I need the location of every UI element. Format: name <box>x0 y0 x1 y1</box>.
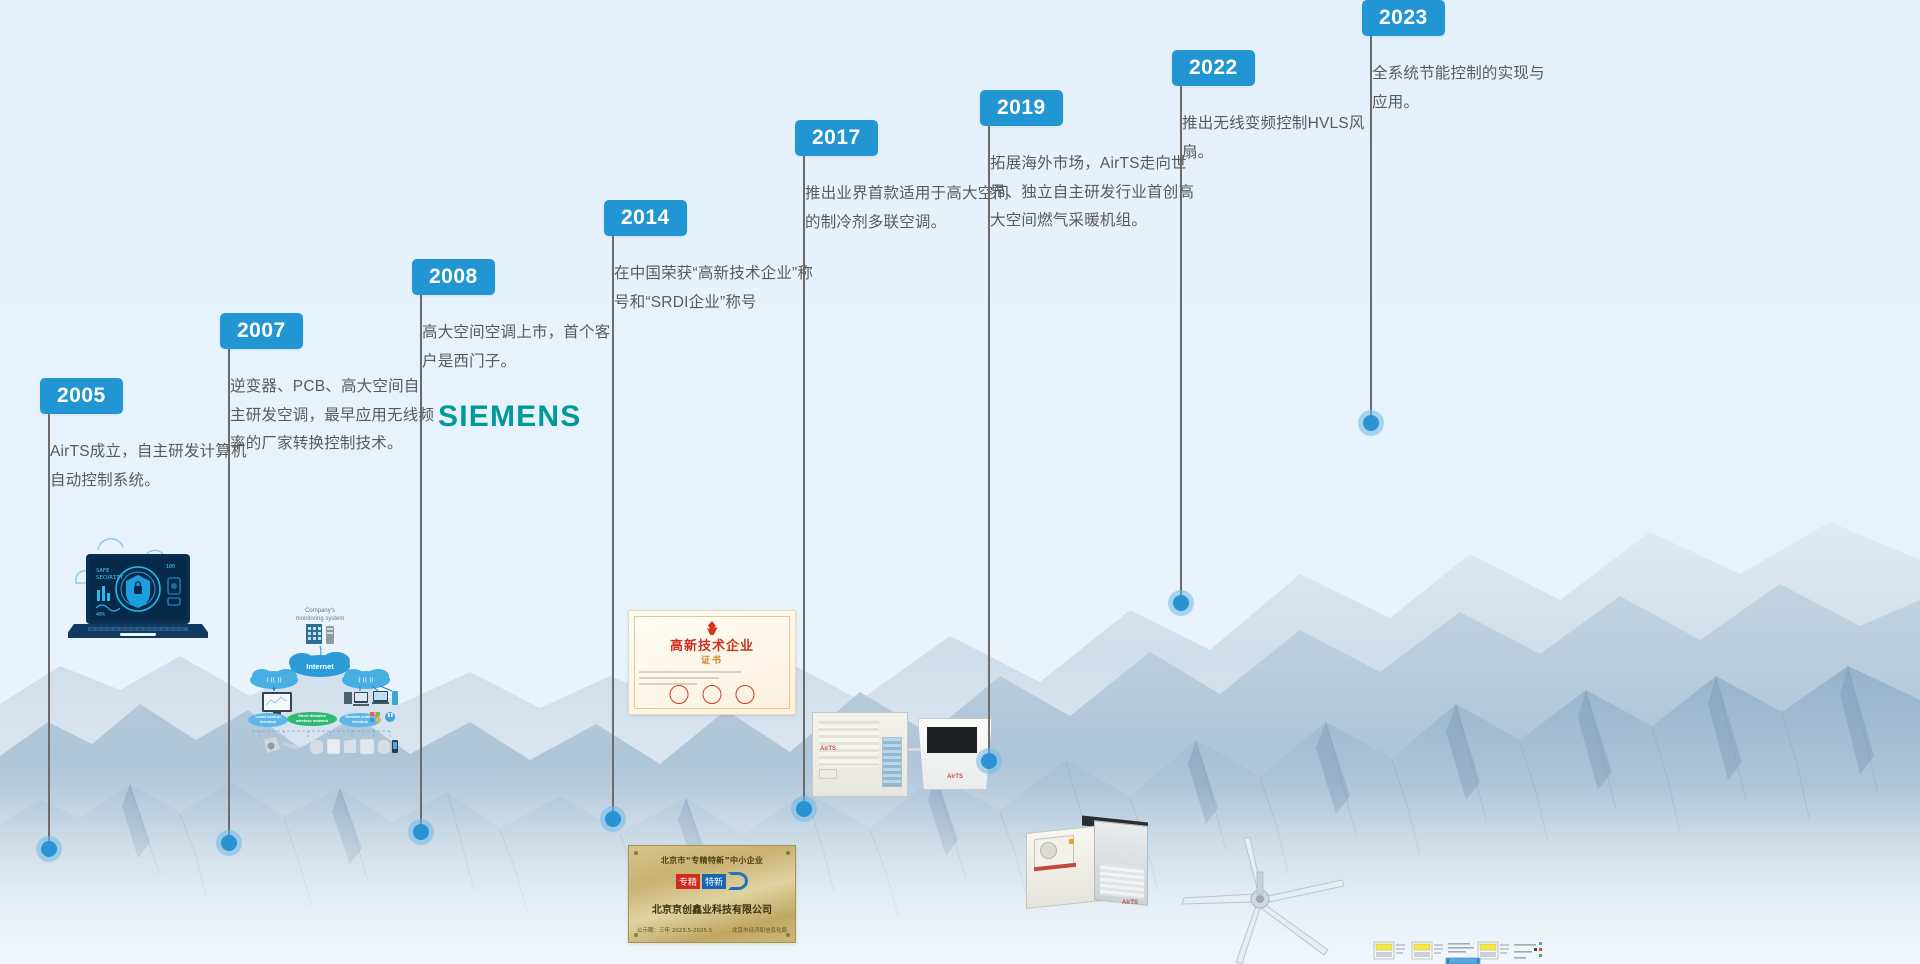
srdi-enterprise-plaque: 北京市“专精特新”中小企业 专精 特新 北京京创鑫业科技有限公司 公示期：三年 … <box>628 845 796 943</box>
unit-access-panel <box>819 769 837 779</box>
high-tech-enterprise-certificate: 高新技术企业 证书 <box>628 610 796 715</box>
milestone-2008[interactable]: 2008 高大空间空调上市，首个客户是西门子。 <box>412 259 622 376</box>
milestone-2019[interactable]: 2019 拓展海外市场，AirTS走向世界、独立自主研发行业首创高大空间燃气采暖… <box>980 90 1195 236</box>
certificate-title: 高新技术企业 <box>629 635 795 654</box>
svg-text:Internet: Internet <box>306 662 334 671</box>
year-badge-2023[interactable]: 2023 <box>1362 0 1445 36</box>
svg-text:terminal: terminal <box>352 719 368 724</box>
milestone-description-2014: 在中国荣获“高新技术企业”称号和“SRDI企业”称号 <box>614 260 819 317</box>
milestone-2007[interactable]: 2007 逆变器、PCB、高大空间自主研发空调，最早应用无线频率的厂家转换控制技… <box>220 313 435 459</box>
connector-line-2022 <box>1180 86 1182 602</box>
connector-line-2019 <box>988 126 990 760</box>
milestone-description-2023: 全系统节能控制的实现与应用。 <box>1372 60 1552 117</box>
milestone-2005[interactable]: 2005 AirTS成立，自主研发计算机自动控制系统。 <box>40 378 250 495</box>
year-badge-2005[interactable]: 2005 <box>40 378 123 414</box>
company-history-timeline: 2005 AirTS成立，自主研发计算机自动控制系统。 SAFE SECURIT… <box>0 0 1920 964</box>
siemens-logo: SIEMENS <box>438 400 581 434</box>
timeline-dot-2008 <box>408 819 434 845</box>
year-badge-2019[interactable]: 2019 <box>980 90 1063 126</box>
airts-brand-label: AirTS <box>1122 900 1138 906</box>
unit-louver-panel <box>1100 863 1144 900</box>
plaque-header: 北京市“专精特新”中小企业 <box>629 855 795 866</box>
connector-line-2023 <box>1370 36 1372 422</box>
milestone-2014[interactable]: 2014 在中国荣获“高新技术企业”称号和“SRDI企业”称号 <box>604 200 819 317</box>
milestone-description-2008: 高大空间空调上市，首个客户是西门子。 <box>422 319 622 376</box>
seal-icon <box>736 685 755 704</box>
plaque-validity: 公示期：三年 2023.5-2025.5 <box>637 926 712 934</box>
seal-icon <box>703 685 722 704</box>
milestone-description-2007: 逆变器、PCB、高大空间自主研发空调，最早应用无线频率的厂家转换控制技术。 <box>230 373 435 459</box>
certificate-seals <box>670 685 755 704</box>
gas-heating-unit: AirTS <box>1022 807 1152 912</box>
year-badge-2008[interactable]: 2008 <box>412 259 495 295</box>
network-topology-diagram: Company's monitoring system Internet ( (… <box>240 600 400 755</box>
svg-text:SAFE: SAFE <box>96 568 110 574</box>
fan-circle-icon <box>1040 842 1057 859</box>
svg-text:wireless network: wireless network <box>295 718 329 723</box>
year-badge-2017[interactable]: 2017 <box>795 120 878 156</box>
timeline-dot-2007 <box>216 830 242 856</box>
srdi-logo: 专精 特新 <box>676 872 748 890</box>
timeline-dot-2019 <box>976 748 1002 774</box>
svg-text:100: 100 <box>166 564 175 570</box>
year-badge-2022[interactable]: 2022 <box>1172 50 1255 86</box>
srdi-logo-red: 专精 <box>676 874 700 889</box>
srdi-logo-swoosh <box>728 872 748 890</box>
seal-icon <box>670 685 689 704</box>
svg-text:( (( )): ( (( )) <box>266 677 282 684</box>
indicator-light <box>1069 839 1074 844</box>
svg-text:( (( )): ( (( )) <box>358 677 374 684</box>
connector-line-2017 <box>803 156 805 808</box>
unit-louver-panel <box>819 721 879 767</box>
scada-control-diagram <box>1368 934 1548 964</box>
timeline-dot-2014 <box>600 806 626 832</box>
timeline-dot-2023 <box>1358 410 1384 436</box>
timeline-dot-2022 <box>1168 590 1194 616</box>
airts-brand-label: AirTS <box>820 746 836 752</box>
unit-coil-grille <box>882 737 902 787</box>
year-badge-2014[interactable]: 2014 <box>604 200 687 236</box>
plaque-company-name: 北京京创鑫业科技有限公司 <box>629 901 795 916</box>
srdi-logo-blue: 特新 <box>702 874 726 889</box>
airts-brand-label: AirTS <box>947 774 963 780</box>
diagram-caption: Company's <box>305 608 335 614</box>
milestone-description-2022: 推出无线变频控制HVLS风扇。 <box>1182 110 1382 167</box>
connector-line-2005 <box>48 414 50 848</box>
connector-line-2007 <box>228 349 230 842</box>
svg-text:monitoring system: monitoring system <box>296 616 345 622</box>
year-badge-2007[interactable]: 2007 <box>220 313 303 349</box>
timeline-dot-2005 <box>36 836 62 862</box>
connector-line-2014 <box>612 236 614 818</box>
outdoor-condensing-unit: AirTS <box>812 712 908 797</box>
milestone-2022[interactable]: 2022 推出无线变频控制HVLS风扇。 <box>1172 50 1382 167</box>
svg-text:terminal: terminal <box>260 719 276 724</box>
hvac-vrf-units: AirTS AirTS <box>812 704 992 809</box>
milestone-2023[interactable]: 2023 全系统节能控制的实现与应用。 <box>1362 0 1552 117</box>
svg-text:40%: 40% <box>96 612 105 618</box>
hvls-ceiling-fan <box>1178 836 1348 964</box>
connector-line-2008 <box>420 295 422 831</box>
air-intake-grille <box>927 727 977 753</box>
certificate-subtitle: 证书 <box>629 653 795 666</box>
laptop-security-illustration: SAFE SECURITY 100 40% <box>68 532 208 650</box>
milestone-description-2019: 拓展海外市场，AirTS走向世界、独立自主研发行业首创高大空间燃气采暖机组。 <box>990 150 1195 236</box>
svg-text:SECURITY: SECURITY <box>96 575 124 581</box>
plaque-issuer: 北京市经济和信息化局 <box>732 926 787 934</box>
